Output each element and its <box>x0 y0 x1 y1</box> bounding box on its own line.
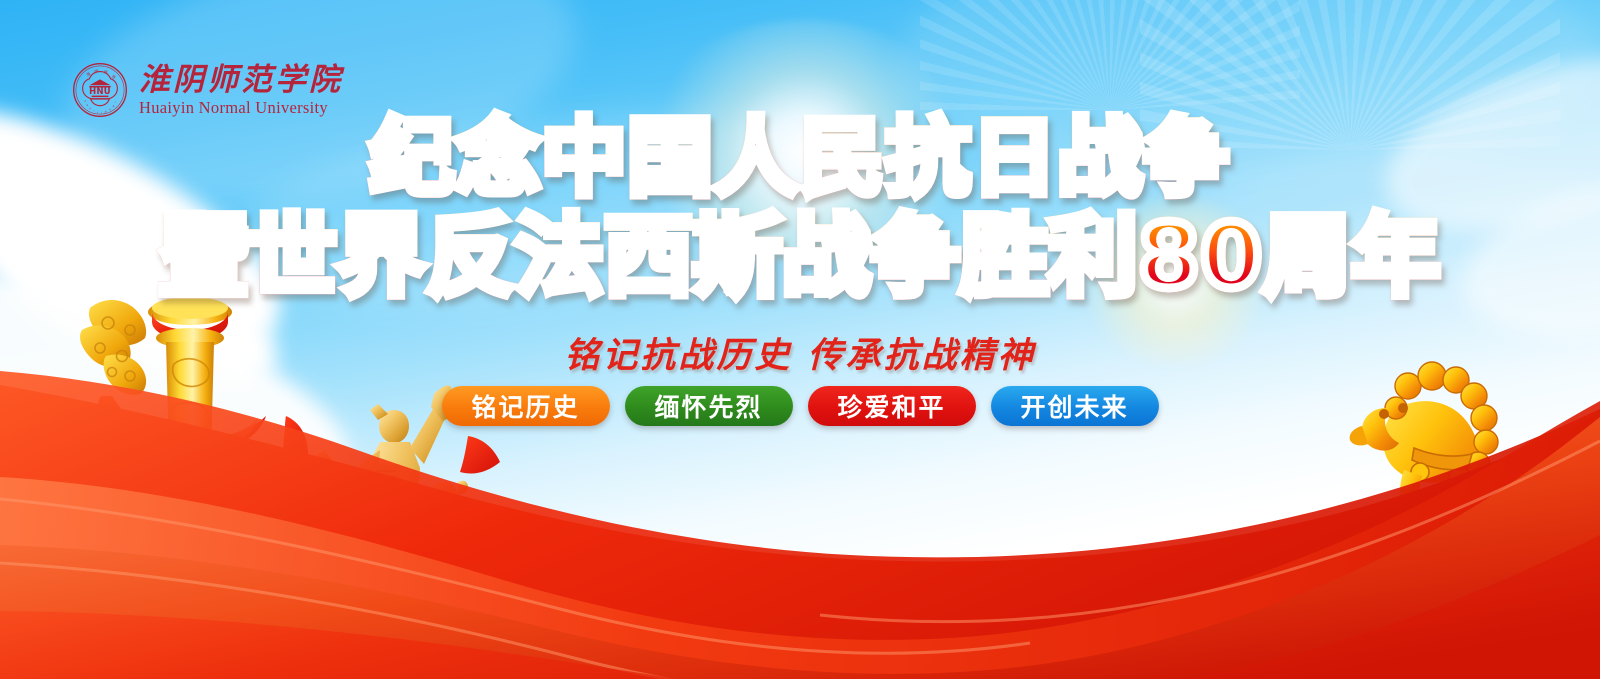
university-seal-icon: HNU 淮 阴 师 范 H U A I Y I N U N I <box>72 62 128 118</box>
university-name-cn: 淮阴师范学院 <box>139 64 343 95</box>
headline-block: 纪念中国人民抗日战争 暨世界反法西斯战争胜利80周年 <box>0 116 1600 301</box>
svg-text:H: H <box>83 99 87 103</box>
svg-text:HNU: HNU <box>89 86 111 96</box>
university-logo: HNU 淮 阴 师 范 H U A I Y I N U N I 淮阴师范学院 <box>72 62 343 118</box>
svg-text:Y: Y <box>97 110 99 114</box>
svg-text:I: I <box>114 101 118 104</box>
red-silk-waves <box>0 349 1600 679</box>
commemorative-banner: HNU 淮 阴 师 范 H U A I Y I N U N I 淮阴师范学院 <box>0 0 1600 679</box>
svg-text:阴: 阴 <box>94 68 99 74</box>
sunburst-rays-icon <box>920 0 1300 110</box>
university-name-block: 淮阴师范学院 Huaiyin Normal University <box>139 64 343 117</box>
svg-text:A: A <box>89 106 93 110</box>
svg-text:I: I <box>93 109 95 113</box>
university-name-en: Huaiyin Normal University <box>139 100 343 117</box>
headline-line-2: 暨世界反法西斯战争胜利80周年 <box>0 213 1600 301</box>
headline-line-1: 纪念中国人民抗日战争 <box>0 116 1600 200</box>
svg-text:N: N <box>112 104 116 108</box>
